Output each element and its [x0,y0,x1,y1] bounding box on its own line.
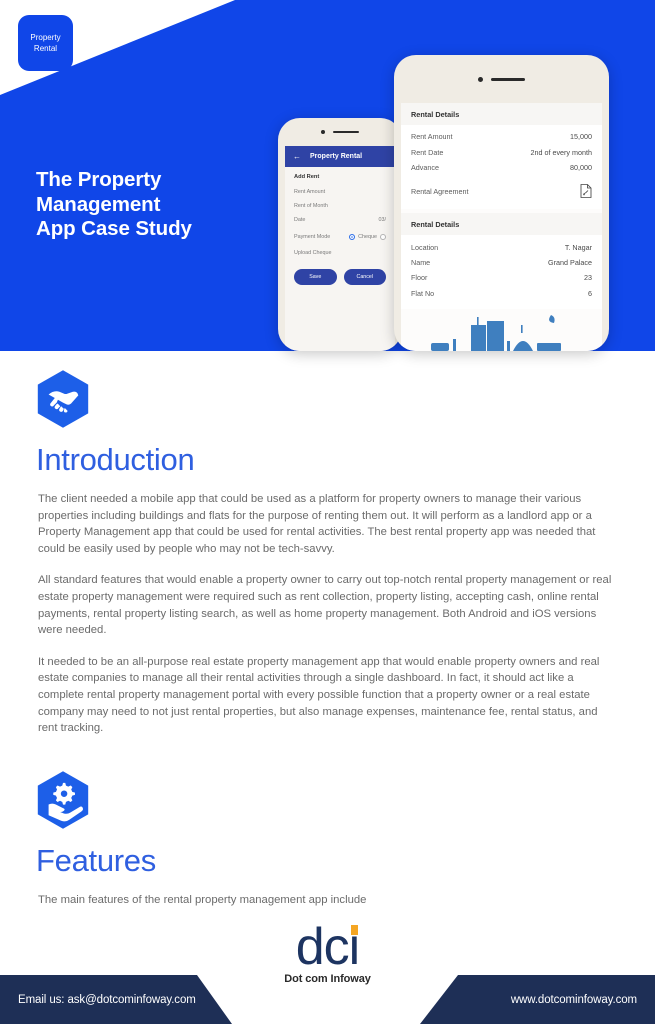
cancel-button[interactable]: Cancel [344,269,387,285]
card-1-body: Rent Amount 15,000 Rent Date 2nd of ever… [401,125,602,209]
speaker-icon [333,131,359,134]
detail-row-rent-date: Rent Date 2nd of every month [411,144,592,159]
payment-mode-label: Payment Mode [294,234,330,240]
logo-orange-dot-icon [351,925,358,935]
logo-wordmark: dci [296,922,359,972]
speaker-icon [491,78,525,81]
pdf-file-icon[interactable] [580,184,592,198]
phone-right-screen: Rental Details Rent Amount 15,000 Rent D… [401,103,602,351]
detail-value: 2nd of every month [530,148,592,157]
upload-cheque-label: Upload Cheque [294,250,331,256]
app-logo-badge: Property Rental [18,15,73,71]
detail-value: 15,000 [570,132,592,141]
footer-website-banner: www.dotcominfoway.com [420,975,655,1024]
phone-left-notch [278,118,402,146]
field-rent-amount[interactable]: Rent Amount [294,189,386,195]
detail-row-floor: Floor 23 [411,270,592,285]
app-badge-line1: Property [30,32,60,43]
phone-mockup-left: 📶 ⊿ 98% ← Property Rental Add Rent Rent … [278,118,402,351]
detail-value: Grand Palace [548,258,592,267]
field-label: Rent Amount [294,189,325,195]
radio-cash-icon[interactable] [380,234,386,240]
phone-mockup-right: Rental Details Rent Amount 15,000 Rent D… [394,55,609,351]
camera-icon [478,77,483,82]
field-label: Date [294,217,305,223]
introduction-paragraph-2: All standard features that would enable … [38,572,618,638]
introduction-heading: Introduction [36,442,655,478]
payment-mode-options[interactable]: Cheque [349,234,386,240]
rental-details-card-1: Rental Details Rent Amount 15,000 Rent D… [401,103,602,209]
form-section-title: Add Rent [294,174,386,180]
field-date[interactable]: Date 03/ [294,217,386,223]
card-1-title: Rental Details [401,103,602,125]
hero-title: The Property Management App Case Study [36,168,192,242]
features-intro-line: The main features of the rental property… [38,892,618,909]
detail-label: Name [411,258,430,267]
field-label: Rent of Month [294,203,328,209]
payment-option-cheque: Cheque [358,234,377,240]
phone-right-notch [394,55,609,103]
back-arrow-icon[interactable]: ← [293,152,301,161]
app-badge-line2: Rental [30,43,60,54]
phone-left-screen: 📶 ⊿ 98% ← Property Rental Add Rent Rent … [285,146,395,351]
introduction-paragraph-1: The client needed a mobile app that coul… [38,491,618,557]
card-2-title: Rental Details [401,213,602,235]
form-action-buttons: Save Cancel [294,269,386,285]
footer-website-text[interactable]: www.dotcominfoway.com [511,994,637,1006]
detail-label: Floor [411,273,427,282]
radio-cheque-icon[interactable] [349,234,355,240]
detail-row-rent-amount: Rent Amount 15,000 [411,129,592,144]
detail-label: Rent Amount [411,132,453,141]
camera-icon [321,130,325,134]
content-area: Introduction The client needed a mobile … [0,351,655,908]
app-bar-title: Property Rental [310,153,362,160]
rental-agreement-label: Rental Agreement [411,187,469,196]
upload-cheque-row[interactable]: Upload Cheque [294,250,386,256]
field-payment-mode[interactable]: Payment Mode Cheque [294,234,386,240]
detail-label: Advance [411,163,439,172]
hero-title-line-2: Management [36,193,192,218]
hero-title-line-1: The Property [36,168,192,193]
detail-row-location: Location T. Nagar [411,239,592,254]
detail-row-advance: Advance 80,000 [411,160,592,175]
field-value: 03/ [379,217,387,223]
detail-row-rental-agreement[interactable]: Rental Agreement [411,175,592,201]
footer-email-banner: Email us: ask@dotcominfoway.com [0,975,232,1024]
hero-title-line-3: App Case Study [36,217,192,242]
detail-value: 23 [584,273,592,282]
detail-label: Location [411,243,438,252]
introduction-paragraph-3: It needed to be an all-purpose real esta… [38,654,618,737]
city-skyline-illustration [401,293,601,351]
features-heading: Features [36,843,655,879]
detail-value: 80,000 [570,163,592,172]
save-button[interactable]: Save [294,269,337,285]
detail-label: Rent Date [411,148,443,157]
detail-row-name: Name Grand Palace [411,255,592,270]
footer-email-text[interactable]: Email us: ask@dotcominfoway.com [18,994,196,1006]
field-rent-of-month[interactable]: Rent of Month [294,203,386,209]
hand-gear-service-icon [36,770,90,830]
app-bar: 📶 ⊿ 98% ← Property Rental [285,146,395,167]
add-rent-form: Add Rent Rent Amount Rent of Month Date … [285,167,395,285]
handshake-icon [36,369,90,429]
logo-text: dci [296,918,359,976]
detail-value: T. Nagar [565,243,592,252]
page-footer: dci Dot com Infoway Email us: ask@dotcom… [0,920,655,1024]
